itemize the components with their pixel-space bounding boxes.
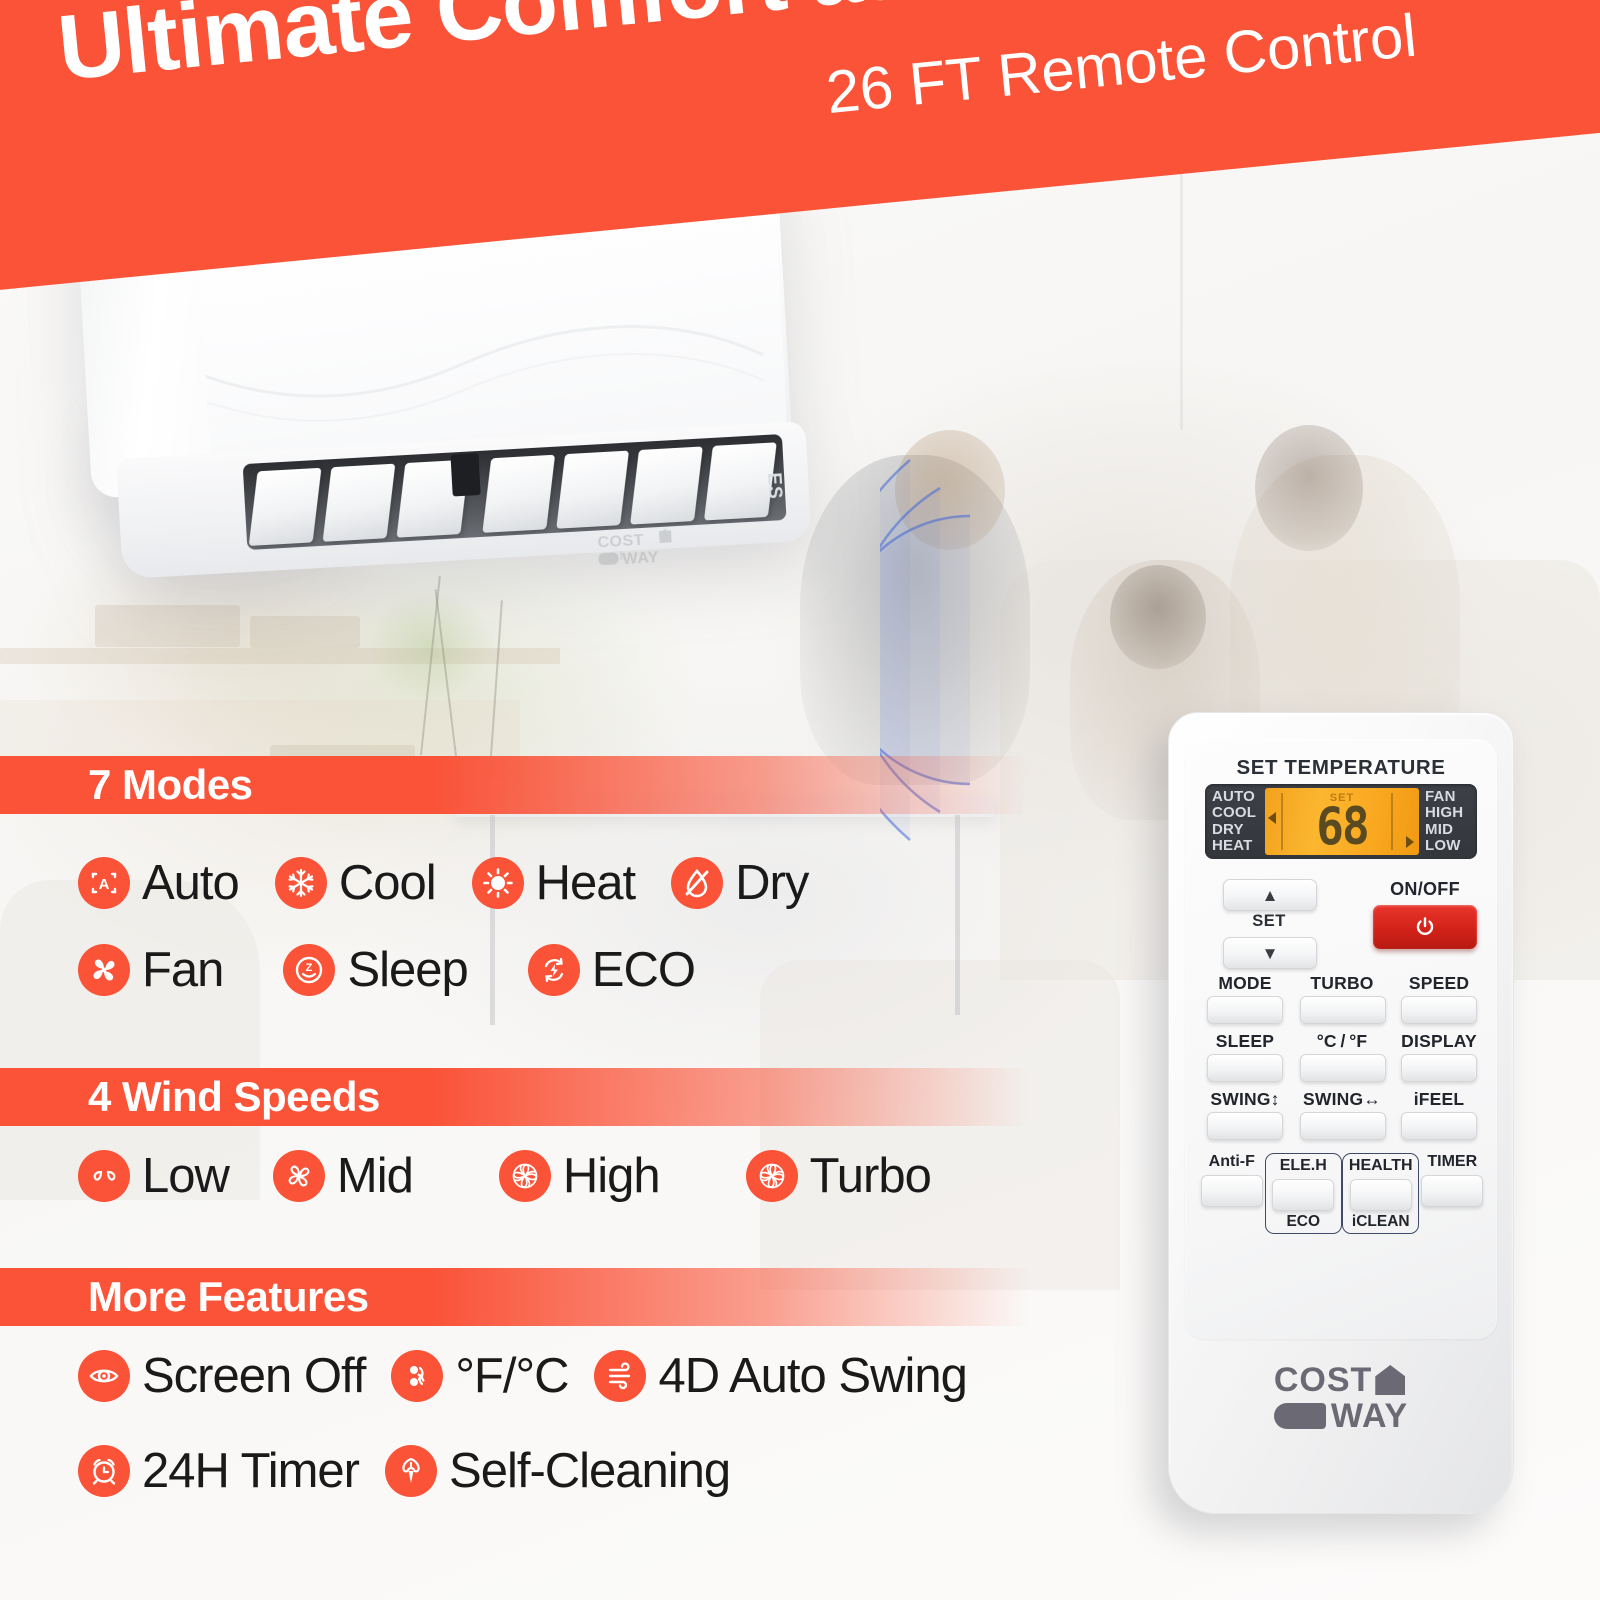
remote-button-grid: MODE TURBO SPEED SLEEP — [1203, 973, 1481, 1147]
dry-droplet-slash-icon — [671, 857, 723, 909]
costway-logo-on-remote: COST WAY — [1169, 1363, 1513, 1433]
section-heading-more-features: More Features — [88, 1273, 369, 1321]
feature-temperature-unit[interactable]: °F/°C — [391, 1348, 568, 1404]
button-sub-label: ECO — [1268, 1213, 1339, 1231]
feature-eco[interactable]: ECO — [528, 942, 695, 998]
more-features-row-1: Screen Off °F/°C — [78, 1348, 967, 1404]
lcd-mode-dry: DRY — [1212, 822, 1264, 839]
button-key[interactable] — [1207, 1112, 1283, 1140]
button-anti-f[interactable]: Anti-F — [1199, 1153, 1265, 1207]
feature-label: ECO — [592, 942, 695, 998]
temperature-down-button[interactable]: ▼ — [1223, 937, 1317, 969]
ac-louver — [323, 464, 396, 542]
logo-row-top: COST — [1274, 1363, 1405, 1397]
button-key[interactable] — [1300, 996, 1386, 1024]
button-ele-h-eco[interactable]: ELE.H ECO — [1265, 1153, 1342, 1234]
lcd-screen: SET 68 — [1265, 788, 1419, 855]
svg-text:A: A — [99, 876, 110, 893]
snowflake-icon — [275, 857, 327, 909]
house-icon — [1375, 1365, 1405, 1395]
feature-heat[interactable]: Heat — [472, 855, 636, 911]
button-label: Anti-F — [1199, 1153, 1265, 1173]
logo-text-way: WAY — [1331, 1399, 1408, 1433]
remote-button-row: SWING↕ SWING↔ iFEEL — [1203, 1089, 1481, 1140]
feature-24h-timer[interactable]: 24H Timer — [78, 1443, 359, 1499]
button-key[interactable] — [1350, 1179, 1412, 1211]
airflow-swing-icon — [594, 1350, 646, 1402]
set-label: SET — [1223, 912, 1315, 931]
power-icon — [1413, 915, 1437, 939]
feature-label: Auto — [142, 855, 239, 911]
sleep-moon-z-icon: Z — [283, 944, 335, 996]
button-label: iFEEL — [1397, 1089, 1481, 1110]
lcd-fan-high: HIGH — [1425, 805, 1477, 822]
button-sub-label: iCLEAN — [1345, 1213, 1416, 1231]
power-button-label: ON/OFF — [1370, 879, 1480, 900]
feature-label: Dry — [735, 855, 808, 911]
feature-label: °F/°C — [455, 1348, 568, 1404]
feature-label: Turbo — [810, 1148, 931, 1204]
button-swing-horizontal[interactable]: SWING↔ — [1300, 1089, 1384, 1140]
fan-high-icon — [499, 1150, 551, 1202]
button-label: ELE.H — [1268, 1157, 1339, 1177]
feature-label: Self-Cleaning — [449, 1443, 730, 1499]
button-health-iclean[interactable]: HEALTH iCLEAN — [1342, 1153, 1419, 1234]
feature-mid[interactable]: Mid — [273, 1148, 413, 1204]
lcd-temperature-value: 68 — [1316, 800, 1367, 852]
feature-4d-auto-swing[interactable]: 4D Auto Swing — [594, 1348, 966, 1404]
button-label: HEALTH — [1345, 1157, 1416, 1177]
eco-leaf-recycle-icon — [528, 944, 580, 996]
button-label: SWING↔ — [1300, 1089, 1384, 1110]
button-key[interactable] — [1272, 1179, 1334, 1211]
remote-bottom-button-row: Anti-F ELE.H ECO HEALTH iCLEAN TIMER — [1199, 1153, 1485, 1234]
lcd-right-pointer-icon — [1406, 836, 1414, 848]
sun-icon — [472, 857, 524, 909]
feature-self-cleaning[interactable]: Self-Cleaning — [385, 1443, 730, 1499]
button-sleep[interactable]: SLEEP — [1203, 1031, 1287, 1082]
remote-button-row: SLEEP °C / °F DISPLAY — [1203, 1031, 1481, 1082]
power-button[interactable] — [1373, 905, 1477, 949]
fan-turbo-icon — [746, 1150, 798, 1202]
remote-lcd-display: AUTO COOL DRY HEAT SET 68 FAN HIGH MID — [1205, 784, 1477, 859]
modes-row-2: Fan Z Sleep — [78, 942, 695, 998]
section-heading-modes: 7 Modes — [88, 761, 253, 809]
button-label: °C / °F — [1300, 1031, 1384, 1052]
ac-contour-line — [131, 289, 766, 434]
ac-side-badge: ES — [762, 472, 785, 501]
lcd-fan-mid: MID — [1425, 822, 1477, 839]
feature-label: Screen Off — [142, 1348, 365, 1404]
button-label: TIMER — [1419, 1153, 1485, 1173]
person-child-head — [1110, 565, 1206, 669]
button-display[interactable]: DISPLAY — [1397, 1031, 1481, 1082]
person-adult-female-head — [1255, 425, 1363, 551]
feature-label: Heat — [536, 855, 636, 911]
button-key[interactable] — [1421, 1175, 1483, 1207]
set-temperature-label: SET TEMPERATURE — [1185, 756, 1497, 780]
feature-fan[interactable]: Fan — [78, 942, 223, 998]
logo-row-bottom: WAY — [1274, 1399, 1408, 1433]
feature-label: 4D Auto Swing — [658, 1348, 966, 1404]
button-ifeel[interactable]: iFEEL — [1397, 1089, 1481, 1140]
button-label: DISPLAY — [1397, 1031, 1481, 1052]
ac-louver — [482, 455, 555, 533]
feature-dry[interactable]: Dry — [671, 855, 808, 911]
lcd-divider-right — [1391, 793, 1393, 850]
feature-label: Fan — [142, 942, 223, 998]
button-mode[interactable]: MODE — [1203, 973, 1287, 1024]
feature-turbo[interactable]: Turbo — [746, 1148, 931, 1204]
lcd-mode-column: AUTO COOL DRY HEAT — [1205, 784, 1264, 859]
remote-upper-panel: SET TEMPERATURE AUTO COOL DRY HEAT SET 6… — [1185, 739, 1497, 1339]
feature-high[interactable]: High — [499, 1148, 660, 1204]
lcd-fan-column: FAN HIGH MID LOW — [1420, 784, 1477, 859]
page-subtitle: 26 FT Remote Control — [824, 6, 1420, 124]
wind-speeds-row: Low Mid — [78, 1148, 931, 1204]
button-speed[interactable]: SPEED — [1397, 973, 1481, 1024]
down-arrow-icon: ▼ — [1262, 945, 1279, 962]
feature-label: High — [563, 1148, 660, 1204]
button-swing-vertical[interactable]: SWING↕ — [1203, 1089, 1287, 1140]
eye-screen-off-icon — [78, 1350, 130, 1402]
button-label: MODE — [1203, 973, 1287, 994]
alarm-clock-icon — [78, 1445, 130, 1497]
feature-label: Low — [142, 1148, 229, 1204]
logo-text-cost: COST — [1274, 1363, 1372, 1397]
up-arrow-icon: ▲ — [1262, 887, 1279, 904]
fan-mid-icon — [273, 1150, 325, 1202]
svg-text:COST: COST — [597, 532, 644, 552]
temperature-unit-icon — [391, 1350, 443, 1402]
table-leg — [955, 815, 960, 1015]
self-cleaning-brush-icon — [385, 1445, 437, 1497]
feature-screen-off[interactable]: Screen Off — [78, 1348, 365, 1404]
wind-low-icon — [78, 1150, 130, 1202]
lcd-fan-label: FAN — [1425, 789, 1477, 806]
feature-low[interactable]: Low — [78, 1148, 229, 1204]
button-turbo[interactable]: TURBO — [1300, 973, 1384, 1024]
button-label: TURBO — [1300, 973, 1384, 994]
button-label: SLEEP — [1203, 1031, 1287, 1052]
costway-logo-on-ac: COST WAY — [597, 525, 691, 570]
fan-blades-icon — [78, 944, 130, 996]
button-timer[interactable]: TIMER — [1419, 1153, 1485, 1207]
button-label: SWING↕ — [1203, 1089, 1287, 1110]
svg-text:Z: Z — [306, 962, 313, 974]
remote-control: SET TEMPERATURE AUTO COOL DRY HEAT SET 6… — [1168, 712, 1514, 1514]
feature-cool[interactable]: Cool — [275, 855, 436, 911]
lcd-mode-auto: AUTO — [1212, 789, 1264, 806]
more-features-row-2: 24H Timer Self-Cleaning — [78, 1443, 730, 1499]
button-key[interactable] — [1300, 1112, 1386, 1140]
svg-text:WAY: WAY — [622, 549, 659, 568]
button-label: SPEED — [1397, 973, 1481, 994]
section-banner-wind-speeds: 4 Wind Speeds — [0, 1068, 1030, 1126]
ac-louver — [249, 468, 322, 546]
feature-label: 24H Timer — [142, 1443, 359, 1499]
feature-label: Mid — [337, 1148, 413, 1204]
auto-mode-icon: A — [78, 857, 130, 909]
section-banner-modes: 7 Modes — [0, 756, 1030, 814]
lcd-mode-cool: COOL — [1212, 805, 1264, 822]
logo-pill-shape — [1274, 1403, 1326, 1429]
button-key[interactable] — [1401, 1112, 1477, 1140]
section-heading-wind-speeds: 4 Wind Speeds — [88, 1073, 380, 1121]
modes-row-1: A Auto Cool — [78, 855, 808, 911]
ac-louver — [630, 446, 703, 524]
ac-vane-hinge — [450, 453, 480, 496]
button-key[interactable] — [1207, 1054, 1283, 1082]
button-key[interactable] — [1207, 996, 1283, 1024]
remote-button-row: MODE TURBO SPEED — [1203, 973, 1481, 1024]
person-adult-male-head — [895, 430, 1005, 550]
feature-label: Cool — [339, 855, 436, 911]
lcd-fan-low: LOW — [1425, 838, 1477, 855]
button-key[interactable] — [1201, 1175, 1263, 1207]
button-key[interactable] — [1401, 1054, 1477, 1082]
feature-label: Sleep — [347, 942, 467, 998]
ac-louver — [556, 451, 629, 529]
feature-sleep[interactable]: Z Sleep — [283, 942, 467, 998]
infographic-canvas: COST WAY ES Ultimate Comfort at Your Fin… — [0, 0, 1600, 1600]
feature-auto[interactable]: A Auto — [78, 855, 239, 911]
section-banner-more-features: More Features — [0, 1268, 1030, 1326]
lcd-divider-left — [1281, 793, 1283, 850]
lcd-left-pointer-icon — [1268, 812, 1276, 824]
button-key[interactable] — [1401, 996, 1477, 1024]
lcd-mode-heat: HEAT — [1212, 838, 1264, 855]
button-key[interactable] — [1300, 1054, 1386, 1082]
temperature-up-button[interactable]: ▲ — [1223, 879, 1317, 911]
button-temperature-unit[interactable]: °C / °F — [1300, 1031, 1384, 1082]
